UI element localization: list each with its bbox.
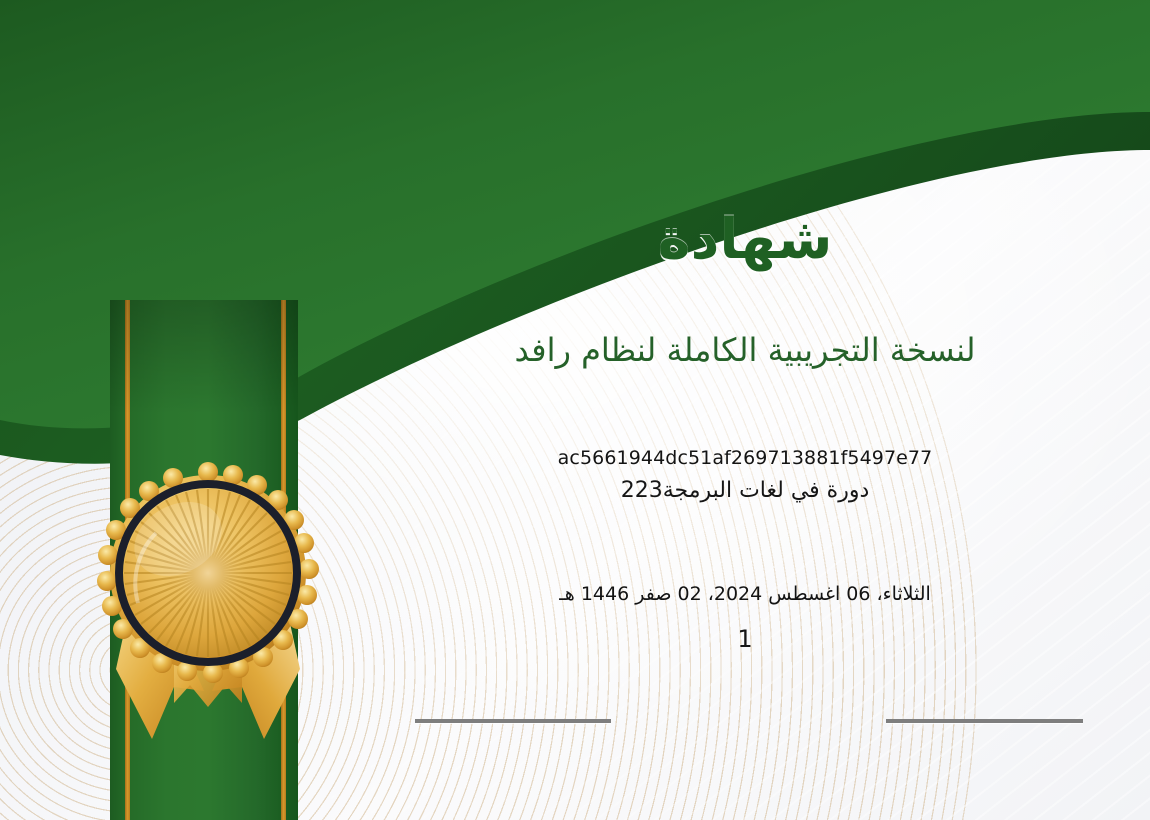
signature-line-left (415, 719, 611, 723)
signature-line-right (886, 719, 1083, 723)
certificate-subtitle: لنسخة التجريبية الكاملة لنظام رافد (340, 330, 1150, 370)
serial-number: 1 (340, 625, 1150, 653)
certificate-title: شهادة (340, 212, 1150, 268)
certificate-text-column: شهادة لنسخة التجريبية الكاملة لنظام رافد… (340, 0, 1150, 820)
course-name: دورة في لغات البرمجة223 (340, 478, 1150, 503)
certificate-canvas: شهادة لنسخة التجريبية الكاملة لنظام رافد… (0, 0, 1150, 820)
issue-date: الثلاثاء، 06 اغسطس 2024، 02 صفر 1446 هـ (340, 583, 1150, 605)
award-medal-icon (78, 455, 338, 765)
certificate-hash: ac5661944dc51af269713881f5497e77 (340, 447, 1150, 469)
